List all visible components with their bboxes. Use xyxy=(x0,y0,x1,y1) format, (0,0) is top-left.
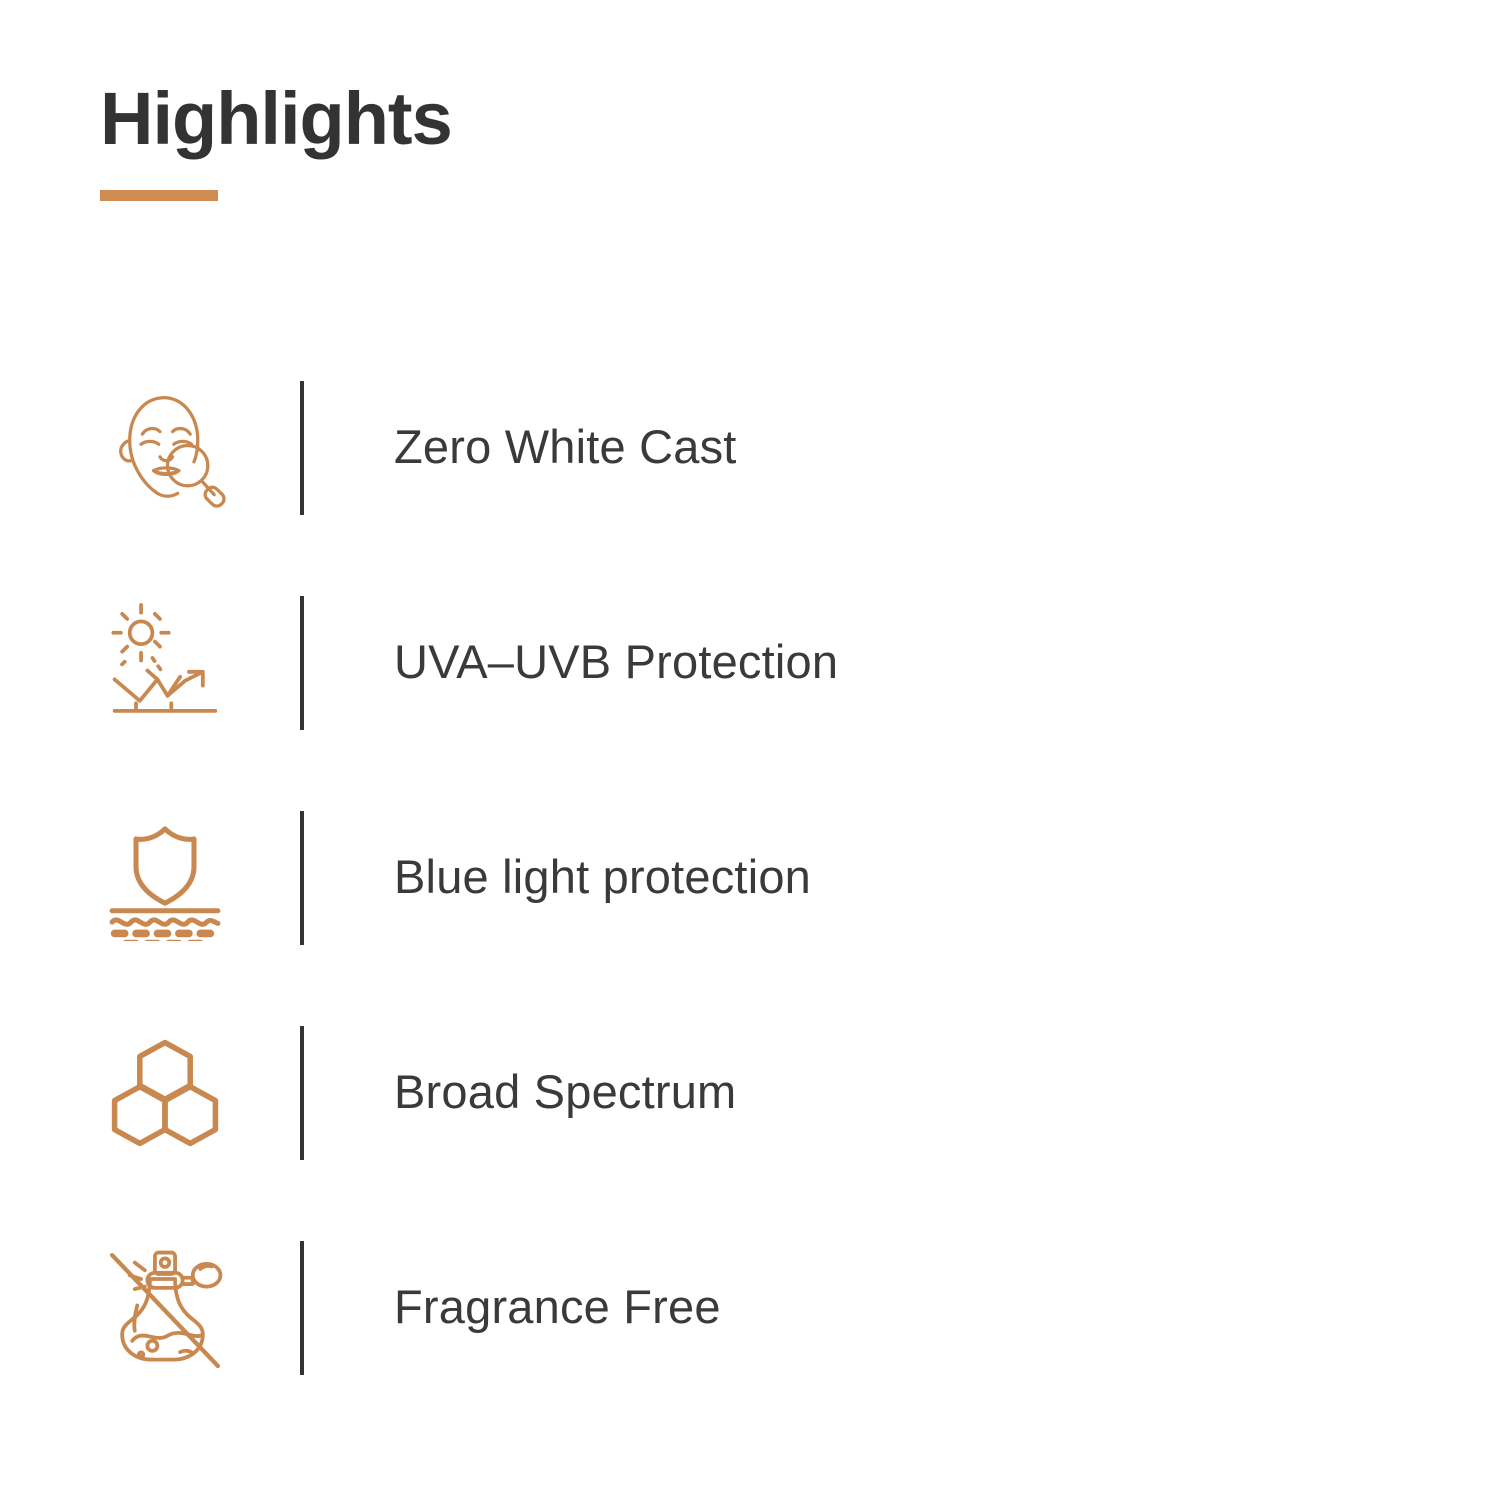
highlight-icon-cell xyxy=(0,1030,300,1156)
no-perfume-bottle-icon xyxy=(102,1245,228,1371)
highlight-icon-cell xyxy=(0,600,300,726)
highlight-icon-cell xyxy=(0,385,300,511)
honeycomb-hexagons-icon xyxy=(102,1030,228,1156)
highlight-icon-cell xyxy=(0,1245,300,1371)
highlight-row: Broad Spectrum xyxy=(0,985,1500,1200)
shield-skin-layers-icon xyxy=(102,815,228,941)
title-accent-rule xyxy=(100,190,218,201)
highlight-label: UVA–UVB Protection xyxy=(394,635,1500,689)
face-magnifier-icon xyxy=(102,385,228,511)
highlight-label-cell: Fragrance Free xyxy=(304,1280,1500,1334)
highlight-label-cell: Broad Spectrum xyxy=(304,1065,1500,1119)
page-header: Highlights xyxy=(100,82,452,201)
highlight-row: UVA–UVB Protection xyxy=(0,555,1500,770)
highlight-label: Blue light protection xyxy=(394,850,1500,904)
sun-uv-rays-icon xyxy=(102,600,228,726)
highlight-label: Broad Spectrum xyxy=(394,1065,1500,1119)
page-title: Highlights xyxy=(100,82,452,156)
highlight-row: Zero White Cast xyxy=(0,340,1500,555)
highlight-label: Fragrance Free xyxy=(394,1280,1500,1334)
highlight-label-cell: UVA–UVB Protection xyxy=(304,635,1500,689)
highlight-label: Zero White Cast xyxy=(394,420,1500,474)
highlights-list: Zero White Cast xyxy=(0,340,1500,1415)
highlight-label-cell: Blue light protection xyxy=(304,850,1500,904)
highlight-label-cell: Zero White Cast xyxy=(304,420,1500,474)
highlights-page: Highlights xyxy=(0,0,1500,1500)
highlight-icon-cell xyxy=(0,815,300,941)
highlight-row: Fragrance Free xyxy=(0,1200,1500,1415)
highlight-row: Blue light protection xyxy=(0,770,1500,985)
